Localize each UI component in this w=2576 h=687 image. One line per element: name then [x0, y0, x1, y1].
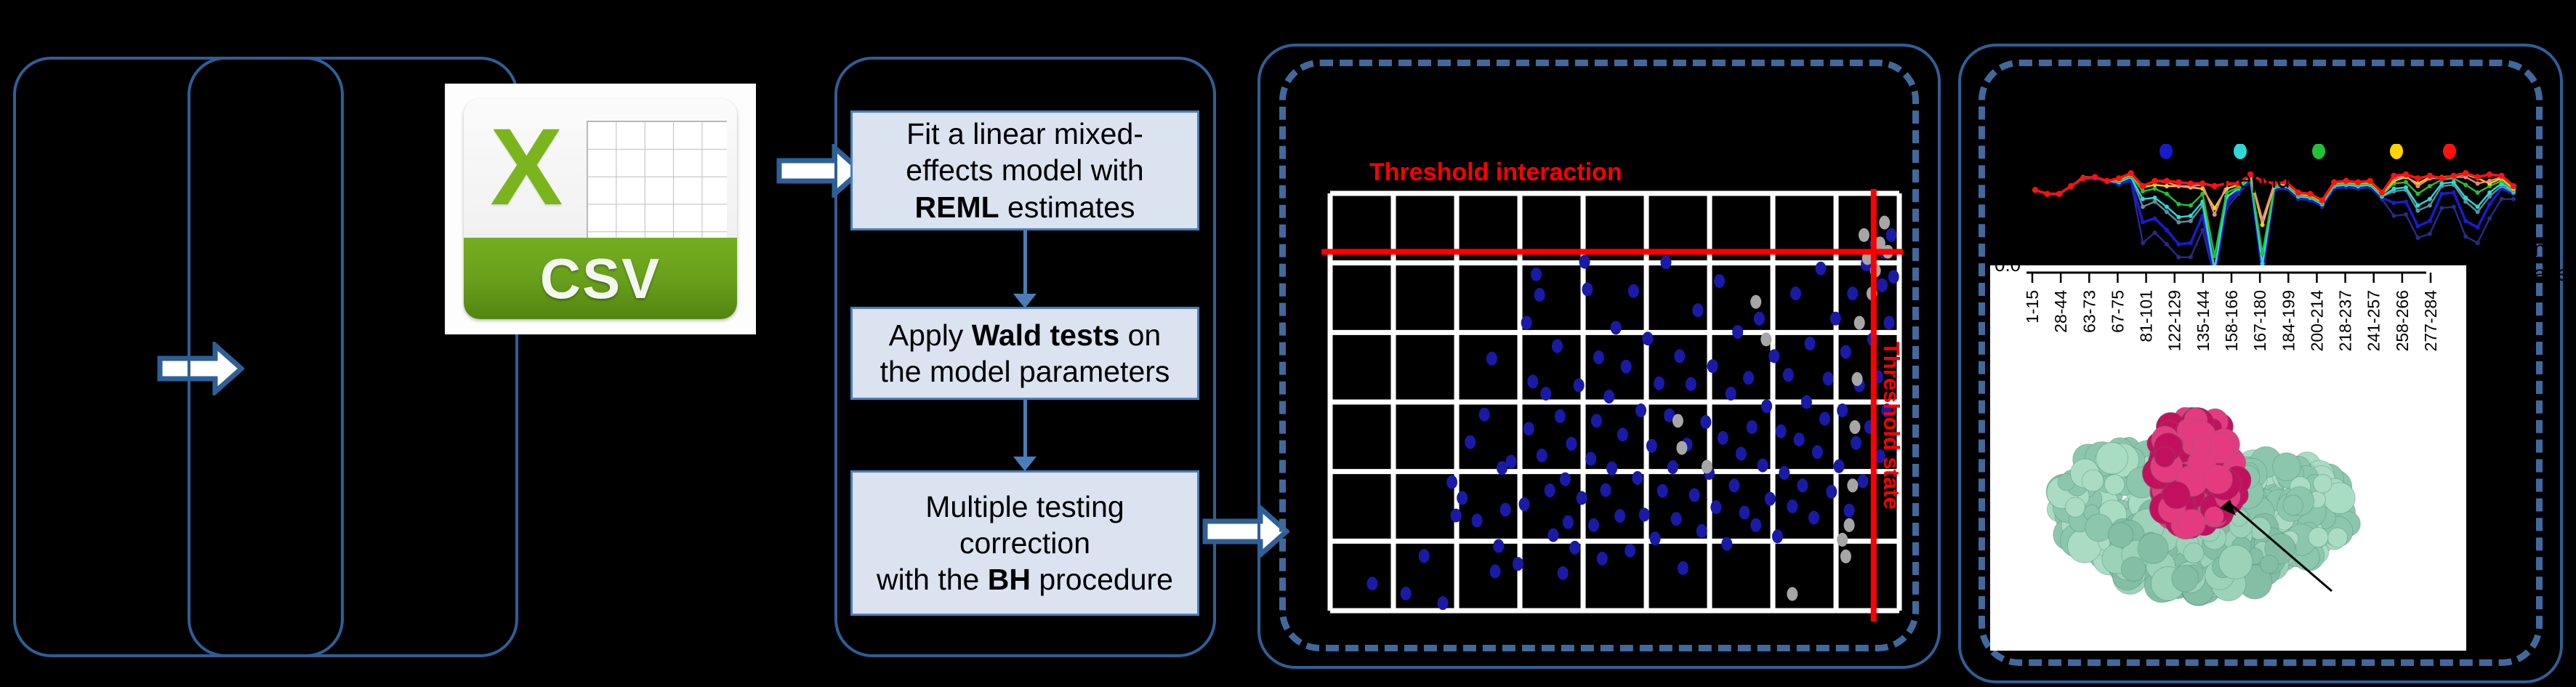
svg-text:63-73: 63-73 — [2080, 290, 2098, 333]
svg-text:122-129: 122-129 — [2165, 290, 2184, 351]
binding-interface-caption: Binding interface — [2485, 237, 2572, 286]
threshold-state-label: Threshold state — [1878, 342, 1904, 510]
svg-text:258-266: 258-266 — [2393, 290, 2412, 351]
csv-card: X CSV — [464, 99, 738, 320]
step-multiple-testing-text: Multiple testingcorrectionwith the BH pr… — [877, 489, 1173, 598]
csv-card-top: X — [464, 99, 738, 238]
arrow-wald-to-bh — [1013, 457, 1037, 471]
svg-text:28-44: 28-44 — [2051, 290, 2070, 333]
spreadsheet-grid-icon — [587, 121, 727, 238]
step-multiple-testing[interactable]: Multiple testingcorrectionwith the BH pr… — [850, 470, 1199, 616]
svg-text:167-180: 167-180 — [2250, 290, 2269, 351]
connector-wald-to-bh — [1023, 400, 1027, 461]
peptide-axis-card: 1-1528-4463-7367-7581-101122-129135-1441… — [1990, 265, 2466, 651]
binding-interface-caption-line-1: Binding — [2485, 237, 2572, 262]
step-fit-model[interactable]: Fit a linear mixed-effects model withREM… — [850, 111, 1199, 230]
step-fit-model-text: Fit a linear mixed-effects model withREM… — [906, 116, 1143, 225]
svg-text:1-15: 1-15 — [2023, 290, 2042, 324]
csv-format-band: CSV — [464, 238, 738, 319]
svg-text:184-199: 184-199 — [2279, 290, 2298, 351]
csv-format-label: CSV — [540, 246, 661, 312]
svg-text:241-257: 241-257 — [2364, 290, 2383, 351]
threshold-interaction-label: Threshold interaction — [1369, 158, 1622, 187]
svg-text:200-214: 200-214 — [2307, 290, 2326, 352]
binding-interface-caption-line-2: interface — [2485, 262, 2572, 286]
connector-fit-to-wald — [1023, 230, 1027, 297]
peptide-axis-title: Peptide — [2222, 166, 2303, 193]
volcano-scatter-plot — [1321, 189, 1903, 622]
excel-x-icon: X — [472, 102, 581, 233]
step-wald-tests-text: Apply Wald tests onthe model parameters — [880, 317, 1170, 390]
arrow-fit-to-wald — [1013, 294, 1037, 308]
svg-text:81-101: 81-101 — [2137, 290, 2156, 342]
csv-file-icon: X CSV — [445, 84, 756, 334]
svg-text:218-237: 218-237 — [2336, 290, 2355, 351]
svg-text:0.0: 0.0 — [1995, 265, 2021, 276]
svg-text:158-166: 158-166 — [2222, 290, 2241, 351]
peptide-profile-chart — [2000, 144, 2538, 282]
svg-text:277-284: 277-284 — [2421, 290, 2440, 352]
svg-text:67-75: 67-75 — [2108, 290, 2127, 333]
step-wald-tests[interactable]: Apply Wald tests onthe model parameters — [850, 307, 1199, 400]
svg-text:135-144: 135-144 — [2194, 290, 2213, 352]
